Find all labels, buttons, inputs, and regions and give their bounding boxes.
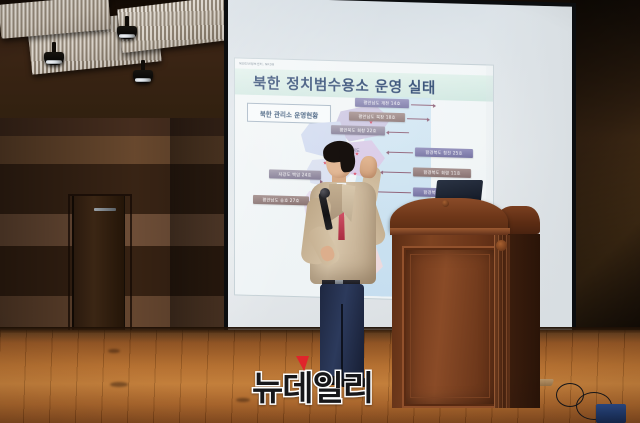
equipment-case <box>596 404 626 423</box>
podium-crown <box>390 198 508 232</box>
slide-callout: 평안남도 개천 14호 <box>355 98 409 109</box>
floor-mark <box>110 382 128 387</box>
floor-mark <box>108 349 120 353</box>
slide-source-tag: 북한인권정보센터, NKDB <box>239 62 274 67</box>
wall-corner-shadow <box>170 118 232 336</box>
watermark-logo: 뉴데일리 <box>252 361 373 410</box>
wooden-podium <box>390 198 540 408</box>
podium-rosette <box>496 240 507 251</box>
exit-door[interactable] <box>72 196 125 336</box>
podium-finial <box>442 200 449 207</box>
speaker-person <box>300 140 400 390</box>
slide-callout: 평안북도 회창 22호 <box>331 125 385 136</box>
wall-far-right <box>570 0 640 345</box>
photo-scene: 북한인권정보센터, NKDB 북한 정치범수용소 운영 실태 북한 관리소 운영… <box>0 0 640 423</box>
podium-side-panel <box>508 234 540 408</box>
ceiling-spotlight <box>44 52 64 65</box>
podium-front-inlay <box>410 254 490 398</box>
slide-callout: 함경북도 회령 11호 <box>413 167 471 178</box>
podium-fluted-column <box>494 235 510 408</box>
ceiling-spotlight <box>133 70 153 83</box>
floor-mark <box>236 398 250 402</box>
slide-callout: 평안남도 북창 18호 <box>349 112 405 123</box>
podium-moulding <box>390 228 510 235</box>
ceiling-spotlight <box>117 26 137 39</box>
slide-callout: 함경북도 청진 25호 <box>415 147 473 158</box>
door-handle[interactable] <box>94 208 116 211</box>
